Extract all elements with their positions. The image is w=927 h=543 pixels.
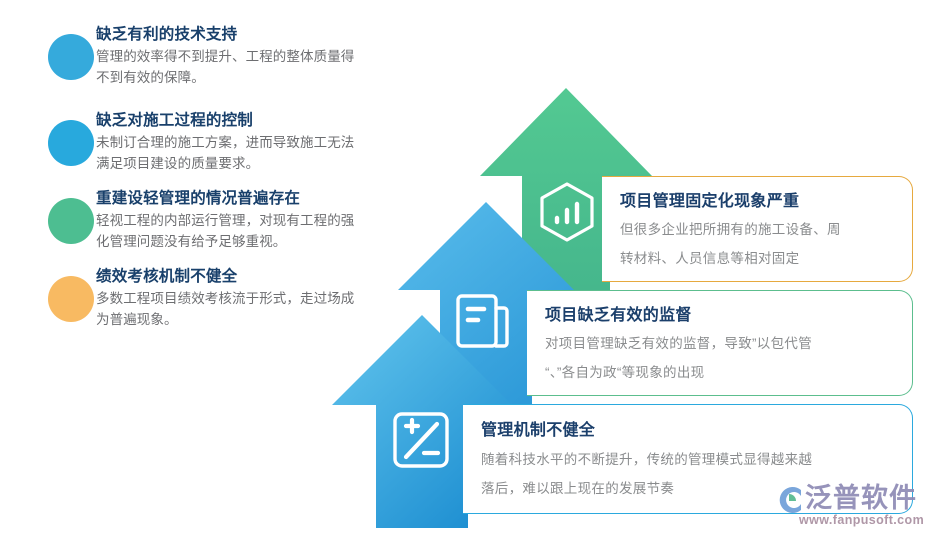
bullet-body-1-line-2: 不到有效的保障。 bbox=[96, 67, 426, 88]
card-project-management-rigidity[interactable]: 项目管理固定化现象严重 但很多企业把所拥有的施工设备、周 转材料、人员信息等相对… bbox=[602, 176, 913, 282]
card-2-body-line-2: “、”各自为政“等现象的出现 bbox=[545, 358, 704, 387]
bullet-list: 缺乏有利的技术支持 管理的效率得不到提升、工程的整体质量得 不到有效的保障。 缺… bbox=[0, 0, 440, 360]
bullet-body-2-line-2: 满足项目建设的质量要求。 bbox=[96, 153, 426, 174]
bullet-text-4: 绩效考核机制不健全 多数工程项目绩效考核流于形式，走过场成 为普遍现象。 bbox=[96, 266, 426, 330]
infographic-canvas: 缺乏有利的技术支持 管理的效率得不到提升、工程的整体质量得 不到有效的保障。 缺… bbox=[0, 0, 927, 543]
card-2-body-line-1: 对项目管理缺乏有效的监督，导致”以包代管 bbox=[545, 329, 812, 358]
card-1-title: 项目管理固定化现象严重 bbox=[620, 190, 799, 214]
bullet-dot-green bbox=[48, 198, 94, 244]
bullet-title-4: 绩效考核机制不健全 bbox=[96, 266, 426, 288]
card-1-body-line-1: 但很多企业把所拥有的施工设备、周 bbox=[620, 215, 841, 244]
bullet-title-3: 重建设轻管理的情况普遍存在 bbox=[96, 188, 426, 210]
bullet-dot-blue-1 bbox=[48, 34, 94, 80]
bullet-body-4-line-1: 多数工程项目绩效考核流于形式，走过场成 bbox=[96, 288, 426, 309]
card-3-body-line-1: 随着科技水平的不断提升，传统的管理模式显得越来越 bbox=[481, 445, 812, 474]
card-1-body-line-2: 转材料、人员信息等相对固定 bbox=[620, 244, 799, 273]
bullet-text-3: 重建设轻管理的情况普遍存在 轻视工程的内部运行管理，对现有工程的强 化管理问题没… bbox=[96, 188, 426, 252]
watermark-brand: 泛普软件 bbox=[805, 483, 917, 513]
bullet-body-3-line-1: 轻视工程的内部运行管理，对现有工程的强 bbox=[96, 210, 426, 231]
watermark-url: www.fanpusoft.com bbox=[799, 513, 924, 527]
bullet-body-3-line-2: 化管理问题没有给予足够重视。 bbox=[96, 231, 426, 252]
bullet-body-1-line-1: 管理的效率得不到提升、工程的整体质量得 bbox=[96, 46, 426, 67]
bullet-dot-blue-2 bbox=[48, 120, 94, 166]
card-3-body-line-2: 落后，难以跟上现在的发展节奏 bbox=[481, 474, 674, 503]
bullet-text-1: 缺乏有利的技术支持 管理的效率得不到提升、工程的整体质量得 不到有效的保障。 bbox=[96, 24, 426, 88]
bullet-title-2: 缺乏对施工过程的控制 bbox=[96, 110, 426, 132]
watermark: 泛普软件 www.fanpusoft.com bbox=[769, 481, 919, 537]
hexagon-bar-chart-icon bbox=[542, 184, 592, 240]
fanpusoft-logo-icon bbox=[771, 485, 805, 515]
card-lack-of-supervision[interactable]: 项目缺乏有效的监督 对项目管理缺乏有效的监督，导致”以包代管 “、”各自为政“等… bbox=[527, 290, 913, 396]
card-3-title: 管理机制不健全 bbox=[481, 419, 595, 443]
card-2-title: 项目缺乏有效的监督 bbox=[545, 304, 692, 328]
bullet-text-2: 缺乏对施工过程的控制 未制订合理的施工方案，进而导致施工无法 满足项目建设的质量… bbox=[96, 110, 426, 174]
document-book-icon bbox=[458, 296, 507, 346]
bullet-body-4-line-2: 为普遍现象。 bbox=[96, 309, 426, 330]
bullet-dot-orange bbox=[48, 276, 94, 322]
bullet-body-2-line-1: 未制订合理的施工方案，进而导致施工无法 bbox=[96, 132, 426, 153]
plus-minus-calculator-icon bbox=[395, 414, 447, 466]
bullet-title-1: 缺乏有利的技术支持 bbox=[96, 24, 426, 46]
